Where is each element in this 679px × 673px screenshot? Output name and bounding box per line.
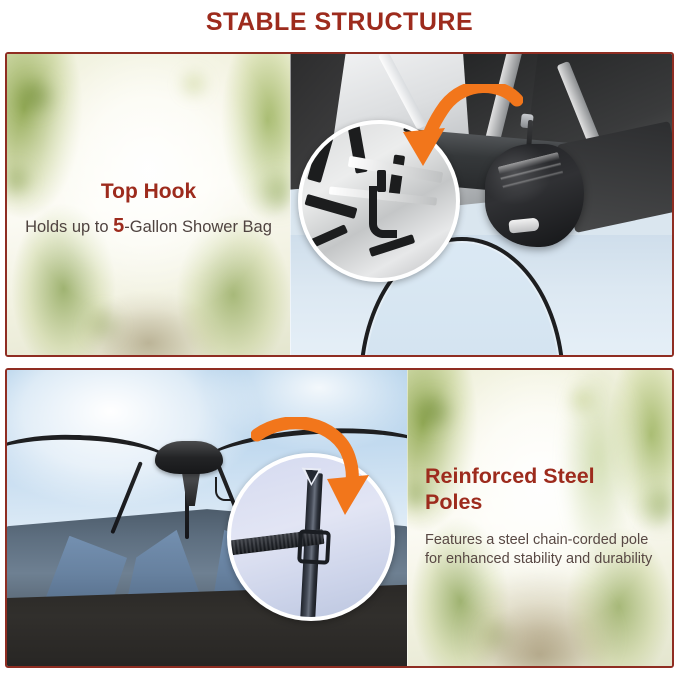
- inset-strap-band: [308, 224, 348, 249]
- steel-poles-body: Features a steel chain-corded pole for e…: [425, 531, 656, 569]
- top-hook-subline-suffix: -Gallon Shower Bag: [124, 218, 272, 236]
- top-hook-text-block: Top Hook Holds up to 5-Gallon Shower Bag: [7, 180, 290, 238]
- hook-inset-magnifier: [298, 120, 460, 282]
- shower-bag: [485, 144, 584, 246]
- pole-strap-inset-magnifier: [227, 453, 395, 621]
- shower-bag-nozzle: [508, 217, 539, 233]
- top-hook-capacity-value: 5: [113, 215, 124, 237]
- top-hook-subline-prefix: Holds up to: [25, 218, 113, 236]
- page-title: STABLE STRUCTURE: [206, 8, 473, 37]
- top-hook-subline: Holds up to 5-Gallon Shower Bag: [13, 214, 284, 238]
- tent-pole-left: [7, 432, 176, 497]
- page-header: STABLE STRUCTURE: [0, 0, 679, 44]
- steel-poles-text-block: Reinforced Steel Poles Features a steel …: [407, 463, 672, 569]
- bottom-row-divider: [407, 370, 408, 666]
- inset-strap-band: [304, 194, 357, 219]
- feature-panel-top-hook: Top Hook Holds up to 5-Gallon Shower Bag: [5, 52, 674, 357]
- steel-poles-heading: Reinforced Steel Poles: [425, 463, 630, 515]
- shower-bag-print: [497, 152, 565, 201]
- top-hook-photo: [290, 54, 672, 355]
- feature-panel-steel-poles: Reinforced Steel Poles Features a steel …: [5, 368, 674, 668]
- steel-poles-photo: [7, 370, 407, 666]
- pole-strap-buckle: [297, 530, 331, 566]
- top-row-divider: [290, 54, 291, 355]
- tent-hub: [155, 441, 223, 474]
- top-hook-heading: Top Hook: [13, 180, 284, 204]
- steel-poles-text-cell: Reinforced Steel Poles Features a steel …: [407, 370, 672, 666]
- top-hook-text-cell: Top Hook Holds up to 5-Gallon Shower Bag: [7, 54, 290, 355]
- hook-icon: [369, 186, 397, 238]
- tent-ceiling-hanger: [215, 477, 231, 501]
